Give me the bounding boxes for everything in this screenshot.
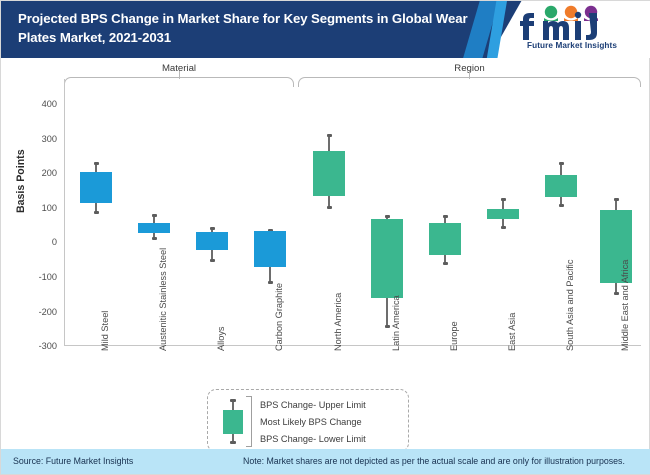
whisker-cap-upper	[559, 162, 564, 165]
logo-wordmark	[520, 12, 597, 40]
whisker-cap-lower	[94, 211, 99, 214]
y-tick-200: 200	[42, 168, 57, 178]
legend-bracket	[246, 396, 252, 447]
legend-cap-bottom	[230, 441, 236, 444]
whisker-cap-lower	[559, 204, 564, 207]
whisker-cap-lower	[614, 292, 619, 295]
whisker-cap-upper	[501, 198, 506, 201]
whisker-cap-lower	[501, 226, 506, 229]
logo-caption: Future Market Insights	[501, 41, 643, 50]
y-tick-0: 0	[52, 237, 57, 247]
page-title: Projected BPS Change in Market Share for…	[18, 9, 488, 47]
whisker-cap-lower	[210, 259, 215, 262]
x-axis-label: Alloys	[216, 326, 226, 351]
box-most-likely[interactable]	[429, 223, 461, 255]
box-most-likely[interactable]	[371, 219, 403, 298]
box-most-likely[interactable]	[80, 172, 112, 203]
box-most-likely[interactable]	[254, 231, 286, 267]
logo-person-green	[544, 6, 558, 21]
x-axis-label: South Asia and Pacific	[565, 260, 575, 351]
x-axis-label: Latin America	[391, 295, 401, 351]
legend-item-upper: BPS Change- Upper Limit	[260, 400, 366, 410]
whisker-cap-upper	[443, 215, 448, 218]
y-tick-400: 400	[42, 99, 57, 109]
box-most-likely[interactable]	[487, 209, 519, 218]
legend-item-likely: Most Likely BPS Change	[260, 417, 362, 427]
box-most-likely[interactable]	[545, 175, 577, 197]
box-most-likely[interactable]	[196, 232, 228, 250]
whisker-cap-upper	[614, 198, 619, 201]
footer-note: Note: Market shares are not depicted as …	[243, 456, 625, 466]
y-tick-300: 300	[42, 134, 57, 144]
header-banner: Projected BPS Change in Market Share for…	[1, 1, 650, 58]
y-tick-neg300: -300	[39, 341, 57, 351]
whisker-cap-lower	[443, 262, 448, 265]
whisker-cap-upper	[152, 214, 157, 217]
whisker-cap-upper	[327, 134, 332, 137]
x-axis-label: North America	[333, 293, 343, 351]
whisker-cap-upper	[94, 162, 99, 165]
group-tick-region	[469, 71, 470, 79]
x-axis-label: Europe	[449, 321, 459, 351]
legend-item-lower: BPS Change- Lower Limit	[260, 434, 366, 444]
y-axis-title: Basis Points	[15, 149, 27, 213]
box-group[interactable]	[487, 79, 519, 346]
x-axis-label: Austenitic Stainless Steel	[158, 248, 168, 351]
y-tick-neg200: -200	[39, 307, 57, 317]
legend-box-glyph	[220, 395, 246, 448]
box-group[interactable]	[80, 79, 112, 346]
x-axis-label: Carbon Graphite	[274, 283, 284, 351]
whisker-cap-upper	[210, 227, 215, 230]
fmi-logo: Future Market Insights	[501, 5, 643, 55]
whisker-cap-lower	[385, 325, 390, 328]
y-tick-100: 100	[42, 203, 57, 213]
y-tick-neg100: -100	[39, 272, 57, 282]
box-most-likely[interactable]	[313, 151, 345, 197]
legend-box	[223, 410, 243, 434]
whisker-cap-lower	[268, 281, 273, 284]
group-tick-material	[179, 71, 180, 79]
whisker-cap-lower	[152, 237, 157, 240]
fmi-logo-mark	[517, 5, 629, 41]
whisker-cap-lower	[327, 206, 332, 209]
x-axis-label: Middle East and Africa	[620, 260, 630, 351]
box-most-likely[interactable]	[138, 223, 170, 233]
box-group[interactable]	[196, 79, 228, 346]
x-axis-label: East Asia	[507, 313, 517, 351]
plot-area: 400 300 200 100 0 -100 -200 -300	[64, 79, 641, 346]
footer-bar: Source: Future Market Insights Note: Mar…	[1, 449, 650, 474]
legend-cap-top	[230, 399, 236, 402]
footer-source: Source: Future Market Insights	[13, 456, 133, 466]
chart-page: Projected BPS Change in Market Share for…	[0, 0, 650, 475]
y-axis-line	[64, 79, 65, 346]
box-group[interactable]	[429, 79, 461, 346]
chart-legend[interactable]: BPS Change- Upper Limit Most Likely BPS …	[207, 389, 409, 452]
x-axis-label: Mild Steel	[100, 311, 110, 351]
